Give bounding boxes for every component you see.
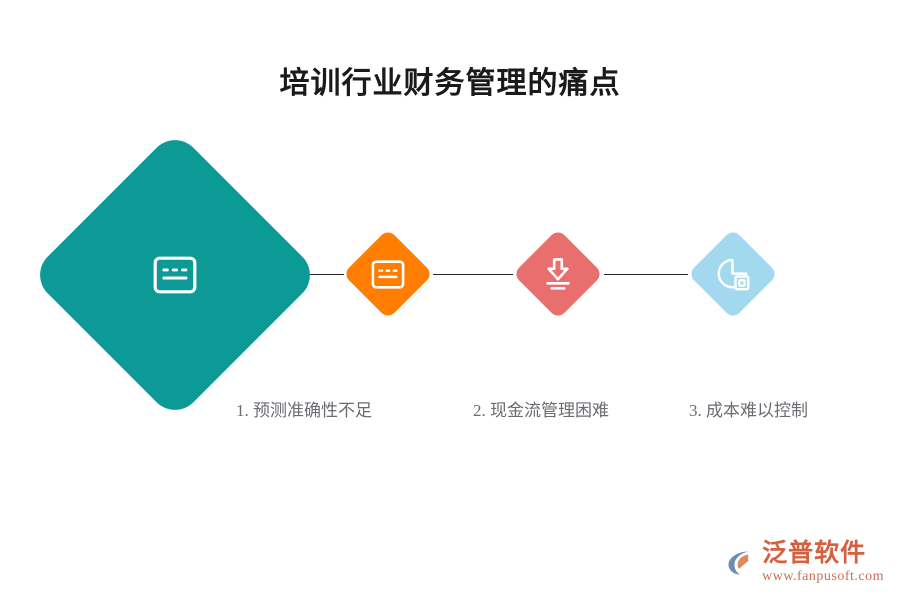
watermark-logo: 泛普软件 www.fanpusoft.com xyxy=(724,541,884,584)
caption-item-3: 3. 成本难以控制 xyxy=(689,396,808,421)
diamond-node-4[interactable] xyxy=(701,242,765,306)
card-lines-icon xyxy=(371,260,405,289)
slide-canvas: 培训行业财务管理的痛点 xyxy=(0,0,900,600)
watermark-brand: 泛普软件 xyxy=(762,541,866,566)
watermark-url: www.fanpusoft.com xyxy=(762,570,884,584)
caption-item-1: 1. 预测准确性不足 xyxy=(236,396,372,421)
download-arrow-icon xyxy=(542,257,574,291)
diamond-flow-diagram xyxy=(0,0,900,600)
diamond-node-3[interactable] xyxy=(526,242,590,306)
watermark-text: 泛普软件 www.fanpusoft.com xyxy=(762,541,884,584)
connector-line-3-4 xyxy=(604,274,688,275)
connector-line-2-3 xyxy=(433,274,513,275)
card-lines-icon xyxy=(153,256,197,294)
diamond-node-1[interactable] xyxy=(72,172,278,378)
caption-item-2: 2. 现金流管理困难 xyxy=(473,396,609,421)
pie-chart-icon xyxy=(714,255,752,293)
diamond-node-2[interactable] xyxy=(356,242,420,306)
fanpu-logo-mark xyxy=(724,547,756,579)
